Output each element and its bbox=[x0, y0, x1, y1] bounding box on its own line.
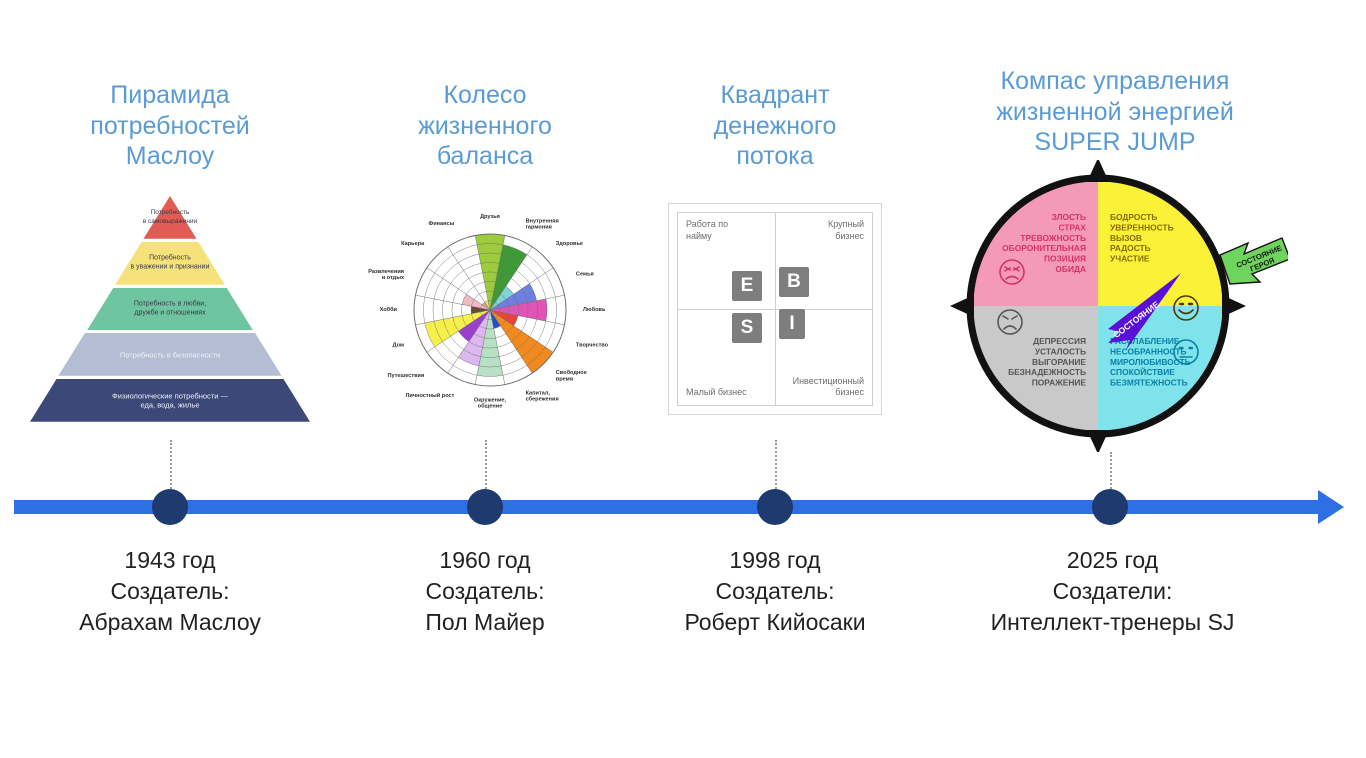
wheel-sector-label: Окружение,общение bbox=[474, 398, 507, 410]
quadrant-label-smallbusiness: Малый бизнес bbox=[686, 387, 747, 399]
quadrant-label-investor: Инвестиционный бизнес bbox=[793, 376, 864, 399]
timeline-dot-1998[interactable] bbox=[757, 489, 793, 525]
quadrant-letter-e: E bbox=[732, 271, 762, 301]
wheel-sector-label: Финансы bbox=[428, 222, 454, 228]
quadrant-inner-frame: Работа по найму Крупный бизнес Малый биз… bbox=[677, 212, 873, 406]
column-title-quadrant: Квадрант денежного потока bbox=[640, 80, 910, 172]
wheel-sector-label: Семья bbox=[576, 272, 594, 278]
column-title-compass: Компас управления жизненной энергией SUP… bbox=[930, 66, 1300, 158]
wheel-sector-label: Здоровье bbox=[556, 242, 583, 248]
energy-compass: ЗЛОСТЬСТРАХТРЕВОЖНОСТЬОБОРОНИТЕЛЬНАЯПОЗИ… bbox=[938, 160, 1288, 452]
wheel-sector-label: Хобби bbox=[380, 306, 398, 313]
timeline-dot-1960[interactable] bbox=[467, 489, 503, 525]
timeline-caption-1943: 1943 год Создатель: Абрахам Маслоу bbox=[20, 545, 320, 638]
timeline-arrow-icon bbox=[1318, 490, 1344, 524]
timeline-dot-2025[interactable] bbox=[1092, 489, 1128, 525]
pyramid-level-1: Физиологические потребности — еда, вода,… bbox=[30, 379, 310, 422]
infographic-canvas: Пирамида потребностей Маслоу Колесо жизн… bbox=[0, 0, 1366, 758]
quadrant-letter-s: S bbox=[732, 313, 762, 343]
wheel-sector-label: Друзья bbox=[480, 214, 500, 220]
timeline-connector-1 bbox=[170, 440, 172, 492]
wheel-sector-label: Развлеченияи отдых bbox=[368, 269, 405, 281]
wheel-sector-label: Дом bbox=[393, 343, 405, 349]
pyramid-level-5: Потребность в самовыражении bbox=[30, 196, 310, 239]
timeline-caption-1960: 1960 год Создатель: Пол Майер bbox=[345, 545, 625, 638]
timeline-caption-2025: 2025 год Создатели: Интеллект-тренеры SJ bbox=[940, 545, 1285, 638]
pyramid-level-3: Потребность в любви, дружбе и отношениях bbox=[30, 288, 310, 331]
wheel-sector-label: Внутренняягармония bbox=[526, 219, 559, 231]
timeline-connector-4 bbox=[1110, 452, 1112, 492]
quadrant-label-employee: Работа по найму bbox=[686, 219, 728, 242]
quadrant-label-bigbusiness: Крупный бизнес bbox=[828, 219, 864, 242]
wheel-sector-label: Любовь bbox=[583, 306, 606, 313]
maslow-pyramid: Потребность в самовыраженииПотребность в… bbox=[30, 196, 310, 422]
pyramid-level-4: Потребность в уважении и признании bbox=[30, 242, 310, 285]
timeline-connector-3 bbox=[775, 440, 777, 492]
column-title-wheel: Колесо жизненного баланса bbox=[345, 80, 625, 172]
wheel-of-life-svg: ДрузьяВнутренняягармонияЗдоровьеСемьяЛюб… bbox=[358, 192, 622, 424]
compass-spike bbox=[1222, 295, 1246, 317]
compass-spike bbox=[1087, 160, 1109, 182]
wheel-sector-label: Карьера bbox=[401, 242, 425, 248]
wheel-sector-label: Свободноевремя bbox=[556, 370, 587, 383]
wheel-of-life: ДрузьяВнутренняягармонияЗдоровьеСемьяЛюб… bbox=[358, 192, 622, 424]
quadrant-horizontal-divider bbox=[678, 309, 872, 310]
cashflow-quadrant: Работа по найму Крупный бизнес Малый биз… bbox=[668, 203, 882, 415]
timeline-caption-1998: 1998 год Создатель: Роберт Кийосаки bbox=[630, 545, 920, 638]
wheel-sector-label: Капитал,сбережения bbox=[526, 391, 559, 403]
compass-spike bbox=[1087, 430, 1109, 452]
energy-compass-svg: ЗЛОСТЬСТРАХТРЕВОЖНОСТЬОБОРОНИТЕЛЬНАЯПОЗИ… bbox=[938, 160, 1288, 452]
timeline-dot-1943[interactable] bbox=[152, 489, 188, 525]
quadrant-letter-i: I bbox=[779, 309, 805, 339]
pyramid-level-2: Потребность в безопасности bbox=[30, 333, 310, 376]
quadrant-letter-b: B bbox=[779, 267, 809, 297]
wheel-sector-label: Личностный рост bbox=[405, 392, 454, 399]
compass-spike bbox=[950, 295, 974, 317]
column-title-maslow: Пирамида потребностей Маслоу bbox=[25, 80, 315, 172]
wheel-sector-label: Творчество bbox=[576, 343, 609, 349]
timeline-connector-2 bbox=[485, 440, 487, 492]
wheel-sector-label: Путешествия bbox=[387, 373, 424, 379]
